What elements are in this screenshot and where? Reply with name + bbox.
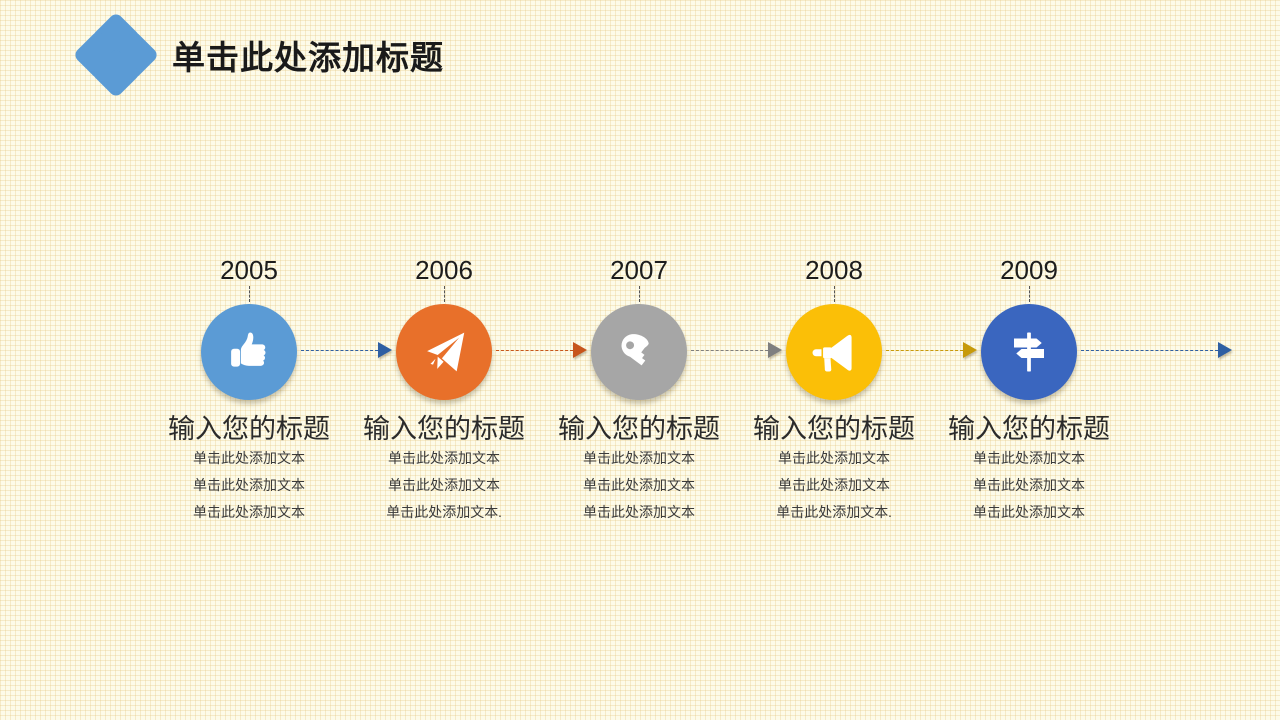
caption-line[interactable]: 单击此处添加文本 [533,446,745,473]
arrow-dashed-line [496,350,573,351]
timeline-year-label: 2005 [151,255,347,285]
arrow-dashed-line [1081,350,1218,351]
timeline-icon-circle[interactable] [981,304,1077,400]
timeline-stem [444,286,445,302]
thumbs-up-icon [223,326,275,378]
paper-plane-icon [417,325,471,379]
timeline-icon-circle[interactable] [591,304,687,400]
four-diamond-logo [80,19,152,91]
timeline-icon-circle[interactable] [786,304,882,400]
caption-title[interactable]: 输入您的标题 [923,412,1135,446]
timeline-caption-2007: 输入您的标题单击此处添加文本单击此处添加文本单击此处添加文本 [533,412,745,527]
timeline-caption-2009: 输入您的标题单击此处添加文本单击此处添加文本单击此处添加文本 [923,412,1135,527]
caption-line[interactable]: 单击此处添加文本 [728,473,940,500]
timeline-node-2009[interactable]: 2009 [931,255,1127,400]
timeline-icon-circle[interactable] [201,304,297,400]
timeline-stem [249,286,250,302]
timeline-arrow-2008 [886,344,977,356]
timeline-stem [834,286,835,302]
caption-title[interactable]: 输入您的标题 [338,412,550,446]
timeline-stem [1029,286,1030,302]
caption-line[interactable]: 单击此处添加文本 [338,473,550,500]
timeline-trailing-arrow [1081,344,1232,356]
timeline-diagram: 20052006200720082009 输入您的标题单击此处添加文本单击此处添… [0,0,1280,720]
arrow-head-icon [378,342,392,358]
caption-line[interactable]: 单击此处添加文本 [923,500,1135,527]
arrow-dashed-line [886,350,963,351]
caption-line[interactable]: 单击此处添加文本 [143,473,355,500]
timeline-arrow-2005 [301,344,392,356]
timeline-year-label: 2006 [346,255,542,285]
timeline-icon-circle[interactable] [396,304,492,400]
arrow-head-icon [963,342,977,358]
caption-line[interactable]: 单击此处添加文本. [338,500,550,527]
timeline-caption-2006: 输入您的标题单击此处添加文本单击此处添加文本单击此处添加文本. [338,412,550,527]
timeline-caption-2008: 输入您的标题单击此处添加文本单击此处添加文本单击此处添加文本. [728,412,940,527]
caption-line[interactable]: 单击此处添加文本 [533,473,745,500]
timeline-year-label: 2007 [541,255,737,285]
caption-line[interactable]: 单击此处添加文本. [728,500,940,527]
timeline-caption-2005: 输入您的标题单击此处添加文本单击此处添加文本单击此处添加文本 [143,412,355,527]
signpost-icon [1005,328,1053,376]
caption-title[interactable]: 输入您的标题 [728,412,940,446]
caption-line[interactable]: 单击此处添加文本 [923,446,1135,473]
arrow-head-icon [1218,342,1232,358]
slide-header: 单击此处添加标题 [80,18,444,92]
page-title[interactable]: 单击此处添加标题 [172,31,444,79]
key-icon [616,329,662,375]
caption-line[interactable]: 单击此处添加文本 [533,500,745,527]
timeline-stem [639,286,640,302]
timeline-arrow-2007 [691,344,782,356]
caption-line[interactable]: 单击此处添加文本 [728,446,940,473]
arrow-head-icon [768,342,782,358]
timeline-node-2005[interactable]: 2005 [151,255,347,400]
slide-canvas: 单击此处添加标题 20052006200720082009 输入您的标题单击此处… [0,0,1280,720]
arrow-dashed-line [301,350,378,351]
caption-line[interactable]: 单击此处添加文本 [338,446,550,473]
timeline-arrow-2006 [496,344,587,356]
timeline-node-2007[interactable]: 2007 [541,255,737,400]
timeline-node-2006[interactable]: 2006 [346,255,542,400]
caption-line[interactable]: 单击此处添加文本 [143,446,355,473]
timeline-year-label: 2008 [736,255,932,285]
timeline-node-2008[interactable]: 2008 [736,255,932,400]
arrow-head-icon [573,342,587,358]
megaphone-icon [809,327,859,377]
caption-line[interactable]: 单击此处添加文本 [143,500,355,527]
arrow-dashed-line [691,350,768,351]
timeline-year-label: 2009 [931,255,1127,285]
caption-title[interactable]: 输入您的标题 [143,412,355,446]
caption-line[interactable]: 单击此处添加文本 [923,473,1135,500]
caption-title[interactable]: 输入您的标题 [533,412,745,446]
